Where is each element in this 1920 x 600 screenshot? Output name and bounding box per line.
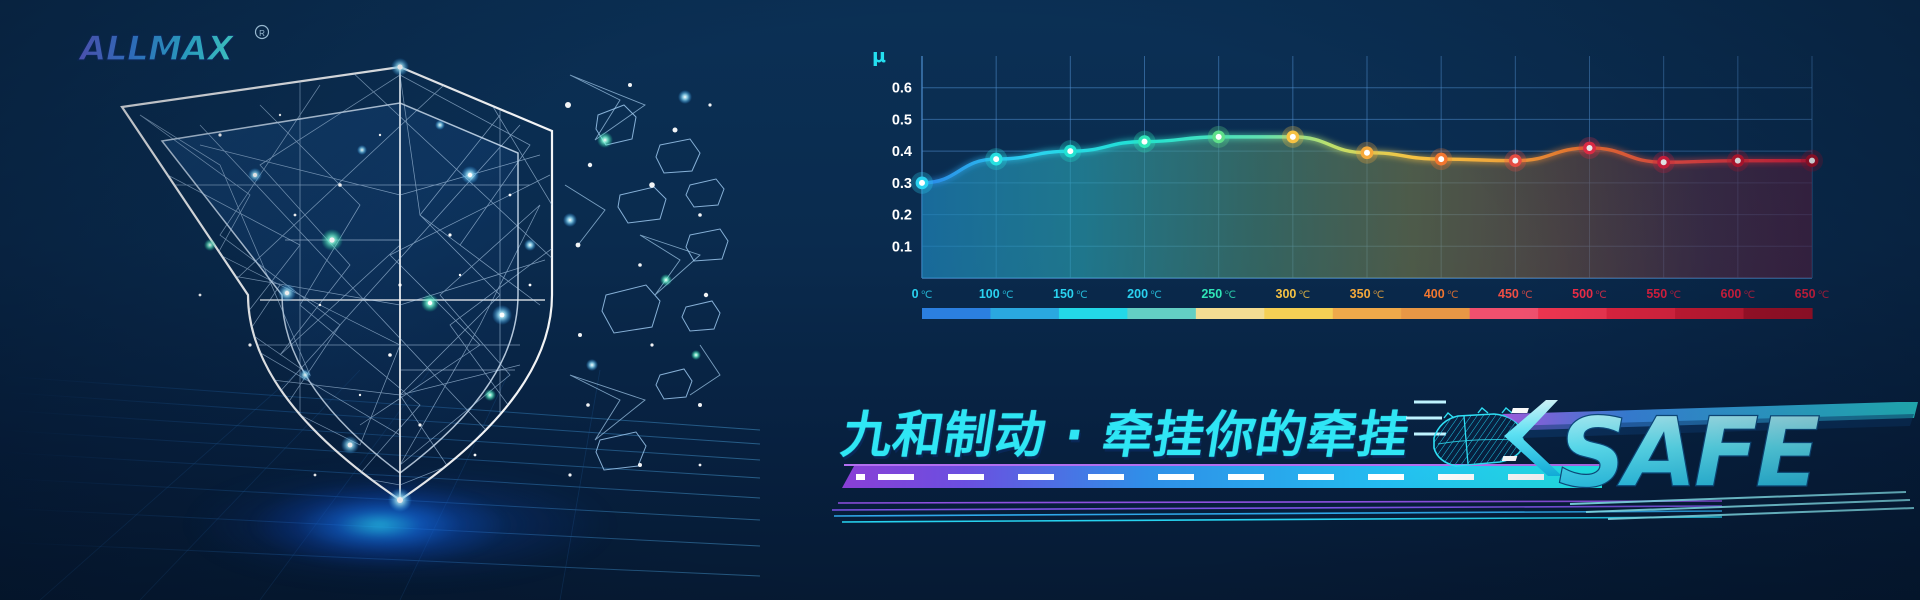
data-point xyxy=(1356,142,1378,164)
data-point xyxy=(1134,131,1156,153)
gradient-bar-segment xyxy=(1470,308,1539,319)
x-tick-label: 600℃ xyxy=(1721,287,1756,301)
data-point xyxy=(1059,140,1081,162)
data-point xyxy=(1801,150,1823,172)
y-axis-symbol: μ xyxy=(872,45,886,67)
x-tick-label: 200℃ xyxy=(1127,287,1162,301)
y-tick-label: 0.2 xyxy=(892,208,912,224)
x-tick-label: 350℃ xyxy=(1350,287,1385,301)
y-tick-label: 0.5 xyxy=(892,112,912,128)
y-tick-label: 0.1 xyxy=(892,239,912,255)
x-tick-label: 300℃ xyxy=(1276,287,1311,301)
gradient-bar-segment xyxy=(1333,308,1402,319)
gradient-bar-segment xyxy=(1127,308,1196,319)
y-tick-label: 0.3 xyxy=(892,176,912,192)
x-tick-label: 450℃ xyxy=(1498,287,1533,301)
y-tick-label: 0.4 xyxy=(892,144,912,160)
gradient-bar-segment xyxy=(990,308,1059,319)
data-point xyxy=(985,148,1007,170)
y-axis-tick-labels: 0.60.50.40.30.20.1 xyxy=(892,81,912,256)
data-point xyxy=(1653,151,1675,173)
gradient-bar-segment xyxy=(1264,308,1333,319)
x-tick-label: 0℃ xyxy=(912,287,933,301)
slogan-block: 九和制动 · 牵挂你的牵挂 xyxy=(843,395,1410,467)
data-point xyxy=(1727,150,1749,172)
y-tick-label: 0.6 xyxy=(892,81,912,97)
x-axis-tick-labels: 0℃100℃150℃200℃250℃300℃350℃400℃450℃500℃55… xyxy=(912,287,1830,301)
x-tick-label: 100℃ xyxy=(979,287,1014,301)
gradient-bar-segment xyxy=(922,308,991,319)
data-point xyxy=(1208,126,1230,148)
brand-logo: ALLMAX R xyxy=(72,20,282,72)
data-point xyxy=(1504,150,1526,172)
x-tick-label: 500℃ xyxy=(1572,287,1607,301)
data-point xyxy=(1430,148,1452,170)
gradient-bar-segment xyxy=(1607,308,1676,319)
data-point xyxy=(911,172,933,194)
gradient-bar-segment xyxy=(1744,308,1813,319)
registered-mark: R xyxy=(259,29,265,38)
slogan-chinese: 九和制动 · 牵挂你的牵挂 xyxy=(837,395,1415,467)
data-point xyxy=(1579,137,1601,159)
banner-canvas: ALLMAX R xyxy=(0,0,1920,600)
x-tick-label: 650℃ xyxy=(1795,287,1830,301)
data-point xyxy=(1282,126,1304,148)
shield-network-icon xyxy=(100,45,720,525)
friction-temperature-chart: μ 0.60.50.40.30.20.1 0℃100℃150℃200℃250℃3… xyxy=(860,40,1820,330)
x-tick-label: 150℃ xyxy=(1053,287,1088,301)
logo-wordmark: ALLMAX xyxy=(77,29,235,69)
x-tick-label: 250℃ xyxy=(1201,287,1236,301)
safe-wordmark: SAFE xyxy=(1500,380,1920,520)
gradient-bar-segment xyxy=(1538,308,1607,319)
safe-text: SAFE xyxy=(1558,397,1820,509)
gradient-bar-segment xyxy=(1675,308,1744,319)
temperature-gradient-bar xyxy=(922,308,1813,319)
x-tick-label: 550℃ xyxy=(1646,287,1681,301)
gradient-bar-segment xyxy=(1401,308,1470,319)
x-tick-label: 400℃ xyxy=(1424,287,1459,301)
gradient-bar-segment xyxy=(1196,308,1265,319)
gradient-bar-segment xyxy=(1059,308,1128,319)
